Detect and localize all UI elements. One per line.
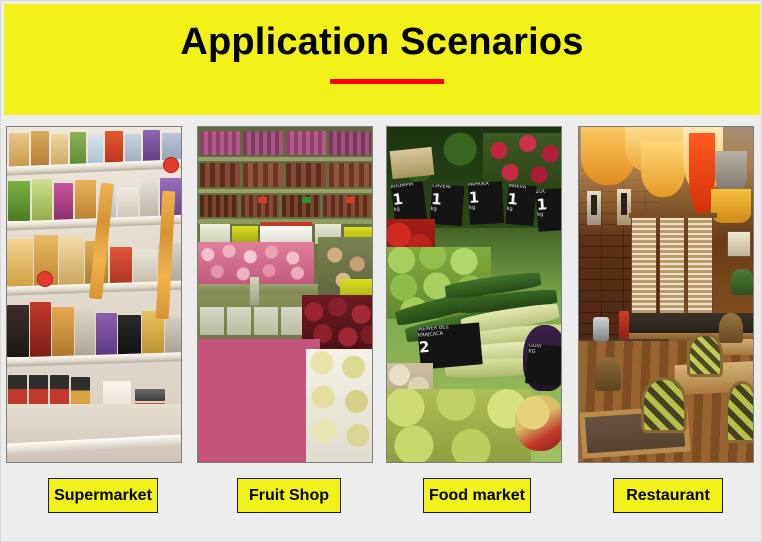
photo-supermarket [7, 127, 181, 462]
caption-label: Fruit Shop [249, 487, 329, 505]
caption-fruit-shop[interactable]: Fruit Shop [237, 478, 341, 513]
price-sign: GUVIKG [525, 343, 561, 386]
page-title: Application Scenarios [4, 22, 760, 64]
photo-panel-restaurant [578, 126, 754, 463]
price-sign: ZUC1kg [536, 188, 561, 232]
photo-fruit-shop [198, 127, 372, 462]
caption-label: Food market [429, 487, 525, 505]
caption-restaurant[interactable]: Restaurant [613, 478, 723, 513]
title-underline-rule [330, 79, 444, 84]
price-sign: PAPRIKA1kg [468, 181, 504, 225]
photo-panel-food-market: KRUMPIR1kg CRVENI1kg PAPRIKA1kg MRKVA1kg… [386, 126, 562, 463]
caption-label: Supermarket [54, 487, 152, 505]
price-sign: MRKVA1kg [505, 184, 536, 226]
title-banner: Application Scenarios [4, 4, 760, 115]
photo-panel-fruit-shop [197, 126, 373, 463]
caption-supermarket[interactable]: Supermarket [48, 478, 158, 513]
photo-restaurant [579, 127, 753, 462]
caption-food-market[interactable]: Food market [423, 478, 531, 513]
photo-panel-supermarket [6, 126, 182, 463]
photo-food-market: KRUMPIR1kg CRVENI1kg PAPRIKA1kg MRKVA1kg… [387, 127, 561, 462]
slide-canvas: Application Scenarios [0, 0, 762, 542]
caption-label: Restaurant [626, 487, 710, 505]
